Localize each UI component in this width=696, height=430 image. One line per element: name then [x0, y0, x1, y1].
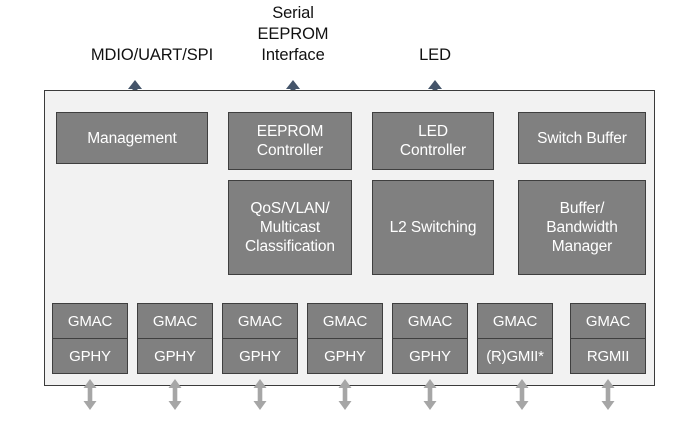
port-2-mac[interactable]: GMAC — [137, 303, 213, 339]
block-management[interactable]: Management — [56, 112, 208, 164]
port-column-1: GMAC GPHY — [52, 303, 128, 375]
port-column-7: GMAC RGMII — [570, 303, 646, 375]
port-column-5: GMAC GPHY — [392, 303, 468, 375]
block-l2-switching[interactable]: L2 Switching — [372, 180, 494, 275]
block-switch-buffer[interactable]: Switch Buffer — [518, 112, 646, 164]
port-3-mac[interactable]: GMAC — [222, 303, 298, 339]
port-column-6: GMAC (R)GMII* — [477, 303, 553, 375]
port-5-mac[interactable]: GMAC — [392, 303, 468, 339]
label-serial-eeprom-interface: Serial EEPROM Interface — [232, 3, 354, 66]
port-column-3: GMAC GPHY — [222, 303, 298, 375]
arrow-port-1 — [82, 379, 98, 410]
port-6-mac[interactable]: GMAC — [477, 303, 553, 339]
arrow-port-6 — [514, 379, 530, 410]
block-led-controller[interactable]: LED Controller — [372, 112, 494, 170]
port-3-phy[interactable]: GPHY — [222, 338, 298, 374]
label-led: LED — [388, 45, 482, 66]
port-2-phy[interactable]: GPHY — [137, 338, 213, 374]
port-7-mac[interactable]: GMAC — [570, 303, 646, 339]
port-6-phy[interactable]: (R)GMII* — [477, 338, 553, 374]
port-1-mac[interactable]: GMAC — [52, 303, 128, 339]
arrow-port-2 — [167, 379, 183, 410]
arrow-port-5 — [422, 379, 438, 410]
arrow-port-4 — [337, 379, 353, 410]
port-7-phy[interactable]: RGMII — [570, 338, 646, 374]
arrow-port-3 — [252, 379, 268, 410]
block-diagram: MDIO/UART/SPI Serial EEPROM Interface LE… — [0, 0, 696, 430]
block-buffer-bandwidth-manager[interactable]: Buffer/ Bandwidth Manager — [518, 180, 646, 275]
block-qos-vlan-multicast-classification[interactable]: QoS/VLAN/ Multicast Classification — [228, 180, 352, 275]
arrow-port-7 — [600, 379, 616, 410]
label-mdio-uart-spi: MDIO/UART/SPI — [62, 45, 242, 66]
block-eeprom-controller[interactable]: EEPROM Controller — [228, 112, 352, 170]
port-column-2: GMAC GPHY — [137, 303, 213, 375]
port-1-phy[interactable]: GPHY — [52, 338, 128, 374]
port-4-phy[interactable]: GPHY — [307, 338, 383, 374]
port-4-mac[interactable]: GMAC — [307, 303, 383, 339]
port-column-4: GMAC GPHY — [307, 303, 383, 375]
port-5-phy[interactable]: GPHY — [392, 338, 468, 374]
